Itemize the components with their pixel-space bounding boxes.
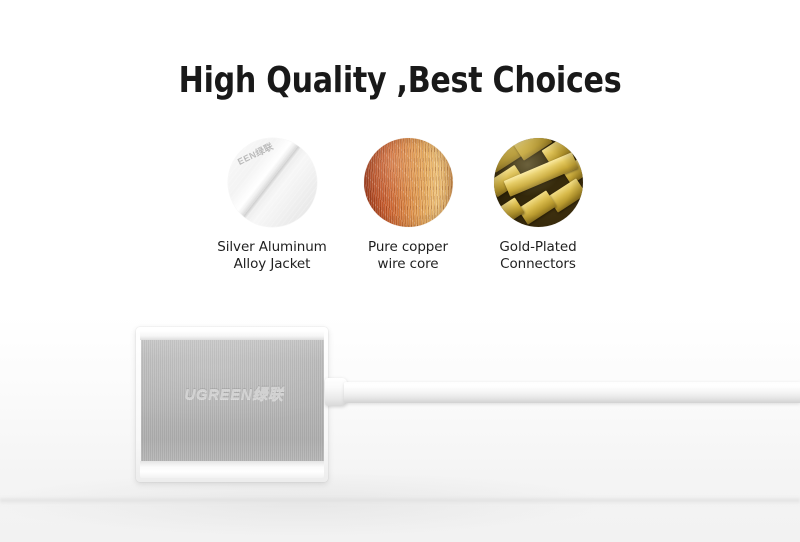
adapter-top-bevel <box>140 331 324 340</box>
adapter-brushed-face <box>141 340 324 461</box>
aluminum-adapter-body: UGREEN绿联 <box>136 327 328 482</box>
adapter-bottom-bevel <box>140 461 324 478</box>
cable-highlight <box>344 384 800 388</box>
product-image: UGREEN绿联 <box>0 0 800 542</box>
promo-banner: High Quality ,Best Choices EEN绿联 Silver … <box>0 0 800 542</box>
